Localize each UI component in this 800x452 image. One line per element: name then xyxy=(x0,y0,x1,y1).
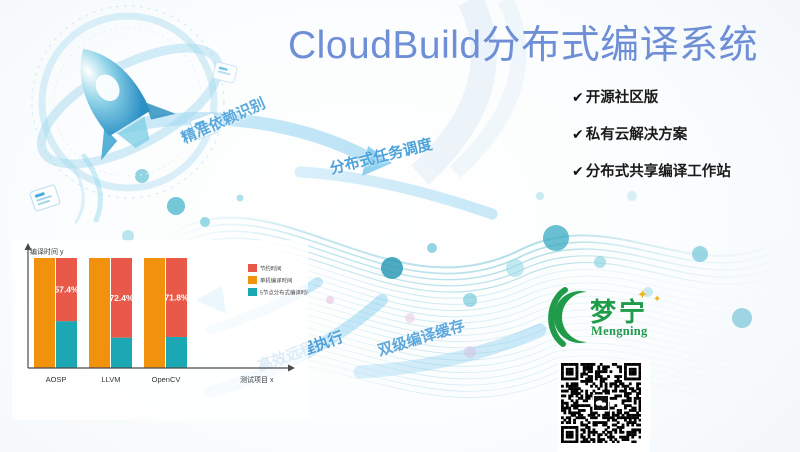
bar-distributed xyxy=(166,337,187,368)
bullet-item: ✔ 分布式共享编译工作站 xyxy=(572,163,800,181)
legend-swatch xyxy=(248,264,257,272)
decor-bubble xyxy=(135,169,149,183)
decor-bubble xyxy=(200,217,210,227)
bar-single-machine xyxy=(34,258,55,368)
decor-bubble xyxy=(381,257,403,279)
chart-category-label: AOSP xyxy=(46,375,67,384)
chart-bars-group: 57.4%72.4%71.8% xyxy=(34,258,189,368)
sparkle-icon: ✦ xyxy=(653,295,661,305)
decor-bubble xyxy=(237,195,244,202)
legend-swatch xyxy=(248,276,257,284)
bar-value-label: 71.8% xyxy=(164,292,189,302)
legend-label: 节约时间 xyxy=(260,265,282,273)
chart-legend: 节约时间单机编译时间5节点分布式编译时间 xyxy=(248,264,308,297)
decor-bubble xyxy=(506,259,524,277)
decor-bubble xyxy=(543,225,569,251)
bar-value-label: 57.4% xyxy=(54,285,79,295)
bullet-item: ✔ 私有云解决方案 xyxy=(572,126,800,144)
chart-category-label: OpenCV xyxy=(152,375,181,384)
bullet-label: 私有云解决方案 xyxy=(586,126,688,144)
chart-x-axis-arrow xyxy=(288,365,295,372)
bar-distributed xyxy=(111,338,132,368)
chart-svg: 57.4%72.4%71.8% AOSPLLVMOpenCV 节约时间单机编译时… xyxy=(12,240,308,420)
chart-xlabel: 测试项目 x xyxy=(240,375,274,384)
bar-single-machine xyxy=(89,258,110,368)
decor-bubble xyxy=(427,243,437,253)
check-icon: ✔ xyxy=(572,89,584,107)
wechat-qr-code[interactable] xyxy=(558,360,650,452)
decor-bubble xyxy=(463,293,477,307)
bullet-item: ✔ 开源社区版 xyxy=(572,89,800,107)
decor-bubble xyxy=(464,346,476,358)
legend-swatch xyxy=(248,288,257,296)
decor-bubble xyxy=(732,308,752,328)
bullet-label: 开源社区版 xyxy=(586,89,659,107)
legend-label: 5节点分布式编译时间 xyxy=(260,289,308,297)
poster-canvas: CloudBuild分布式编译系统 ✔ 开源社区版 ✔ 私有云解决方案 ✔ 分布… xyxy=(0,0,800,452)
brand-logo: ✦ ✦ 梦宁 Mengning xyxy=(543,286,668,348)
bar-value-label: 72.4% xyxy=(109,293,134,303)
chart-category-label: LLVM xyxy=(101,375,120,384)
check-icon: ✔ xyxy=(572,163,584,181)
benchmark-chart: 57.4%72.4%71.8% AOSPLLVMOpenCV 节约时间单机编译时… xyxy=(12,240,308,420)
decor-bubble xyxy=(692,246,708,262)
chart-ylabel: 编译时间 y xyxy=(30,247,64,256)
logo-text-en: Mengning xyxy=(591,324,648,339)
decor-bubble xyxy=(326,296,334,304)
bar-single-machine xyxy=(144,258,165,368)
decor-bubble xyxy=(167,197,185,215)
decor-bubble xyxy=(536,192,544,200)
decor-bubble xyxy=(594,256,606,268)
page-title: CloudBuild分布式编译系统 xyxy=(288,26,788,67)
check-icon: ✔ xyxy=(572,126,584,144)
decor-bubble xyxy=(405,313,415,323)
legend-label: 单机编译时间 xyxy=(260,277,292,285)
bullet-label: 分布式共享编译工作站 xyxy=(586,163,731,181)
arrow-scheduling xyxy=(300,172,492,214)
feature-bullet-list: ✔ 开源社区版 ✔ 私有云解决方案 ✔ 分布式共享编译工作站 xyxy=(572,89,800,200)
bar-distributed xyxy=(56,321,77,368)
